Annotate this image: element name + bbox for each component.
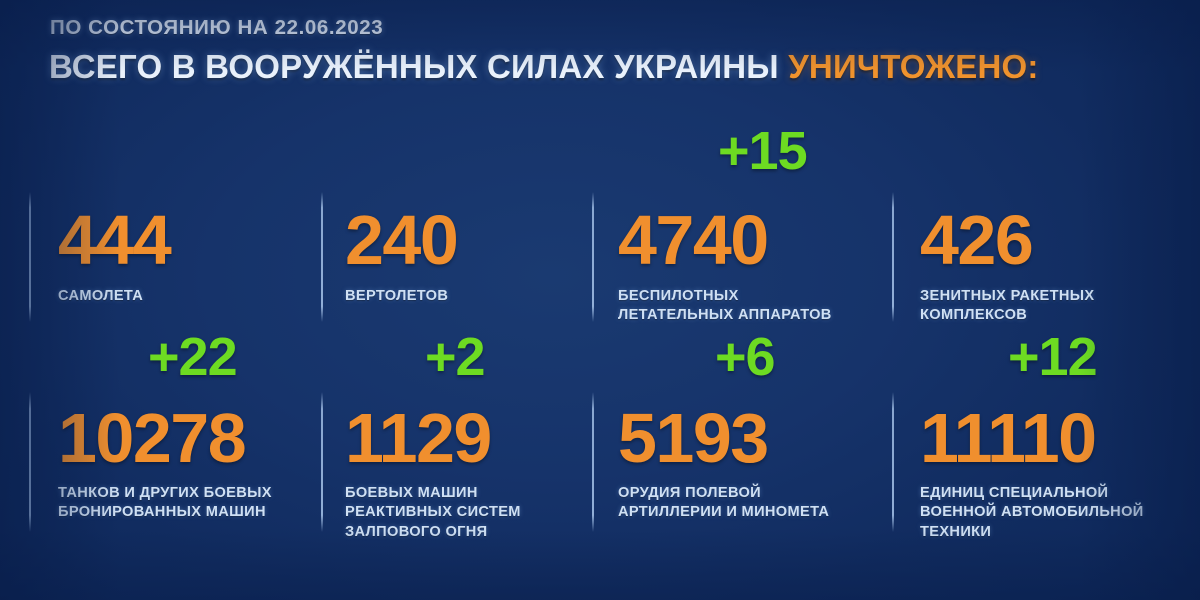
stat-caption-aircraft: Самолета <box>58 287 308 306</box>
divider-row2-col3-4 <box>892 392 894 532</box>
stat-delta-artillery: +6 <box>715 330 775 384</box>
stat-delta-mlrs: +2 <box>425 330 485 384</box>
stat-caption-artillery: ОРУДИЯ ПОЛЕВОЙ АРТИЛЛЕРИИ И МИНОМЕТА <box>618 484 888 523</box>
divider-row2-col2-3 <box>592 392 594 532</box>
stat-delta-military-vehicles: +12 <box>1008 330 1097 384</box>
stat-value-aircraft: 444 <box>58 205 170 275</box>
as-of-date-line: ПО СОСТОЯНИЮ НА 22.06.2023 <box>50 16 383 40</box>
stat-caption-sam-systems: ЗЕНИТНЫХ РАКЕТНЫХ КОМПЛЕКСОВ <box>920 287 1180 326</box>
stat-value-helicopters: 240 <box>345 205 457 275</box>
divider-row1-col3-4 <box>892 192 894 322</box>
stat-caption-tanks: ТАНКОВ И ДРУГИХ БОЕВЫХ БРОНИРОВАННЫХ МАШ… <box>58 484 323 523</box>
divider-row1-left <box>29 192 31 322</box>
divider-row2-left <box>29 392 31 532</box>
stat-value-mlrs: 1129 <box>345 403 491 473</box>
stat-delta-uav: +15 <box>718 124 807 178</box>
stat-caption-uav: БЕСПИЛОТНЫХ ЛЕТАТЕЛЬНЫХ АППАРАТОВ <box>618 287 888 326</box>
stat-delta-tanks: +22 <box>148 330 237 384</box>
stat-value-artillery: 5193 <box>618 403 768 473</box>
stat-value-sam-systems: 426 <box>920 205 1032 275</box>
divider-row1-col2-3 <box>592 192 594 322</box>
stat-value-military-vehicles: 11110 <box>920 403 1096 473</box>
stat-caption-helicopters: ВЕРТОЛЕТОВ <box>345 287 585 306</box>
headline-main-text: ВСЕГО В ВООРУЖЁННЫХ СИЛАХ УКРАИНЫ <box>49 48 779 85</box>
headline-accent-text: УНИЧТОЖЕНО: <box>788 48 1038 85</box>
stat-value-uav: 4740 <box>618 205 768 275</box>
page-title: ВСЕГО В ВООРУЖЁННЫХ СИЛАХ УКРАИНЫ УНИЧТО… <box>49 48 1039 86</box>
divider-row1-col1-2 <box>321 192 323 322</box>
stat-caption-military-vehicles: ЕДИНИЦ СПЕЦИАЛЬНОЙ ВОЕННОЙ АВТОМОБИЛЬНОЙ… <box>920 484 1180 542</box>
stat-caption-mlrs: БОЕВЫХ МАШИН РЕАКТИВНЫХ СИСТЕМ ЗАЛПОВОГО… <box>345 484 585 542</box>
stat-value-tanks: 10278 <box>58 403 245 473</box>
infographic-canvas: ПО СОСТОЯНИЮ НА 22.06.2023 ВСЕГО В ВООРУ… <box>0 0 1200 600</box>
